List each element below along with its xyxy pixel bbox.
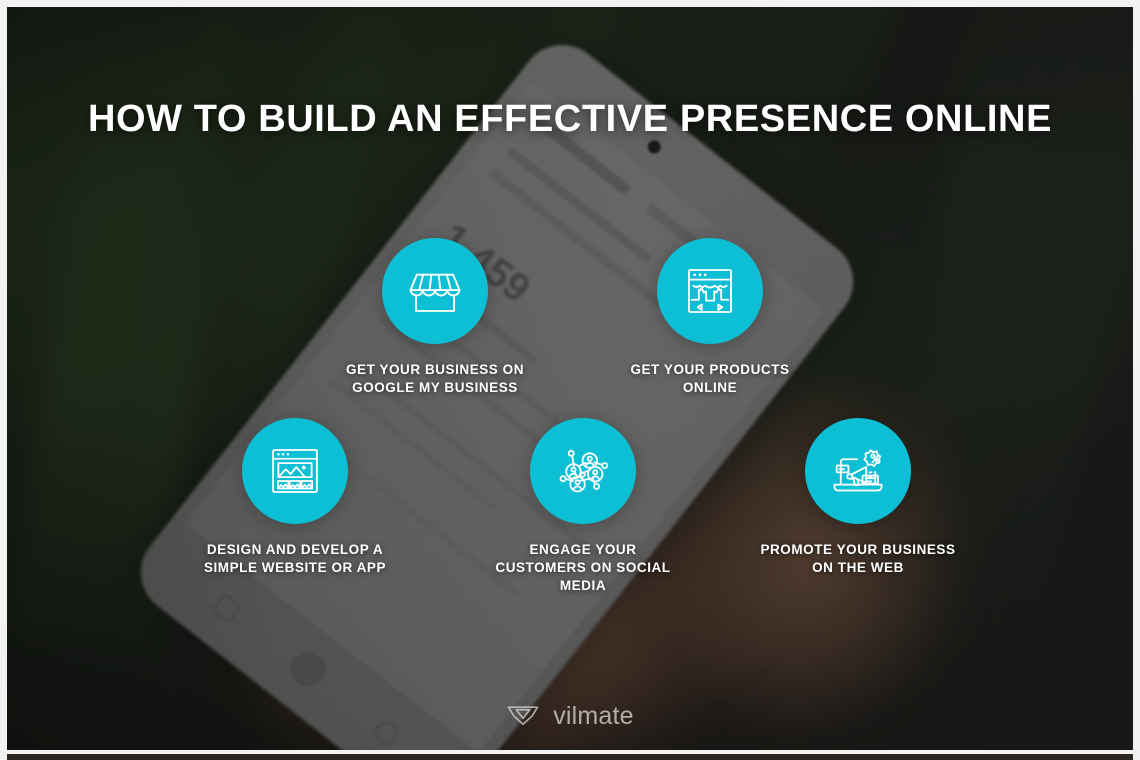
vilmate-hexagon-chevron-logo-icon bbox=[506, 701, 540, 732]
slide-canvas: 1,459 HOW TO BUILD AN EFFECTIVE PRESENCE… bbox=[0, 0, 1140, 760]
step-website-or-app[interactable]: DESIGN AND DEVELOP A SIMPLE WEBSITE OR A… bbox=[165, 418, 425, 577]
social-network-icon-badge[interactable] bbox=[530, 418, 636, 524]
laptop-megaphone-discount-icon bbox=[829, 442, 887, 500]
step-label: ENGAGE YOUR CUSTOMERS ON SOCIAL MEDIA bbox=[453, 541, 713, 595]
social-network-icon bbox=[554, 442, 612, 500]
brand-name: vilmate bbox=[553, 702, 634, 731]
infographic-poster: 1,459 HOW TO BUILD AN EFFECTIVE PRESENCE… bbox=[7, 7, 1133, 750]
step-social-media[interactable]: ENGAGE YOUR CUSTOMERS ON SOCIAL MEDIA bbox=[453, 418, 713, 595]
next-slide-strip[interactable] bbox=[7, 754, 1133, 760]
next-slide-thumbnail bbox=[7, 754, 1133, 760]
step-promote-on-web[interactable]: PROMOTE YOUR BUSINESS ON THE WEB bbox=[728, 418, 988, 577]
step-products-online[interactable]: GET YOUR PRODUCTS ONLINE bbox=[580, 238, 840, 397]
step-label: DESIGN AND DEVELOP A SIMPLE WEBSITE OR A… bbox=[165, 541, 425, 577]
step-label: GET YOUR PRODUCTS ONLINE bbox=[580, 361, 840, 397]
web-page-layout-icon bbox=[267, 443, 323, 499]
web-page-layout-icon-badge[interactable] bbox=[242, 418, 348, 524]
online-store-window-icon-badge[interactable] bbox=[657, 238, 763, 344]
poster-content: HOW TO BUILD AN EFFECTIVE PRESENCE ONLIN… bbox=[7, 7, 1133, 750]
storefront-icon bbox=[406, 262, 464, 320]
step-label: GET YOUR BUSINESS ON GOOGLE MY BUSINESS bbox=[305, 361, 565, 397]
brand-logo[interactable]: vilmate bbox=[7, 701, 1133, 732]
online-store-window-icon bbox=[682, 263, 738, 319]
step-label: PROMOTE YOUR BUSINESS ON THE WEB bbox=[728, 541, 988, 577]
laptop-megaphone-discount-icon-badge[interactable] bbox=[805, 418, 911, 524]
storefront-icon-badge[interactable] bbox=[382, 238, 488, 344]
step-google-my-business[interactable]: GET YOUR BUSINESS ON GOOGLE MY BUSINESS bbox=[305, 238, 565, 397]
page-title: HOW TO BUILD AN EFFECTIVE PRESENCE ONLIN… bbox=[7, 98, 1133, 141]
